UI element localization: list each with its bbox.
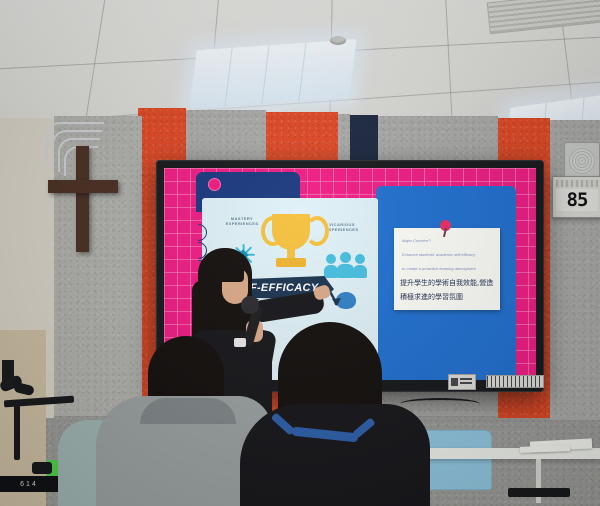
- wooden-cross: [76, 146, 89, 252]
- black-bar: [32, 462, 52, 474]
- smoke-detector-icon: [330, 36, 346, 45]
- ceiling-speaker: [564, 142, 600, 180]
- remote-control[interactable]: [508, 488, 570, 497]
- wooden-cross-arm: [48, 180, 118, 193]
- mastery-line-2: EXPERIENCES: [216, 221, 268, 226]
- camera-tripod-column: [14, 400, 20, 460]
- note-line-1: Enhance students' academic self-efficacy: [402, 252, 475, 258]
- push-pin-icon: [440, 220, 451, 231]
- digital-clock: 85: [552, 176, 600, 218]
- photo-scene: 85 MASTERY EXPERIENCES: [0, 0, 600, 506]
- clock-display: 85: [556, 189, 598, 211]
- note-cjk-line-2: 積極求進的學習氛圍: [400, 292, 463, 302]
- mastery-experiences-label: MASTERY EXPERIENCES: [216, 216, 268, 227]
- wristwatch: [234, 338, 246, 347]
- display-serial-label: [486, 375, 544, 388]
- pink-circle-logo-icon: [208, 178, 221, 191]
- wall-mount-bracket: [2, 360, 14, 388]
- room-number-label: 614: [20, 481, 38, 488]
- display-control-badge[interactable]: [448, 374, 476, 390]
- microphone-head: [241, 296, 259, 314]
- cable: [400, 398, 480, 410]
- handwritten-note: Major Concern? Enhance students' academi…: [394, 228, 500, 310]
- note-line-2: to create a proactive learning atmospher…: [402, 266, 476, 272]
- room-number-plate: 614: [0, 476, 58, 492]
- attendee-2-jacket: [240, 404, 430, 506]
- ceiling-light-main: [190, 39, 357, 109]
- note-heading: Major Concern?: [402, 238, 430, 244]
- attendee-1-collar: [140, 398, 236, 424]
- note-cjk-line-1: 提升學生的學術自我效能,營造: [400, 278, 493, 288]
- presenter-hair-front: [214, 250, 244, 282]
